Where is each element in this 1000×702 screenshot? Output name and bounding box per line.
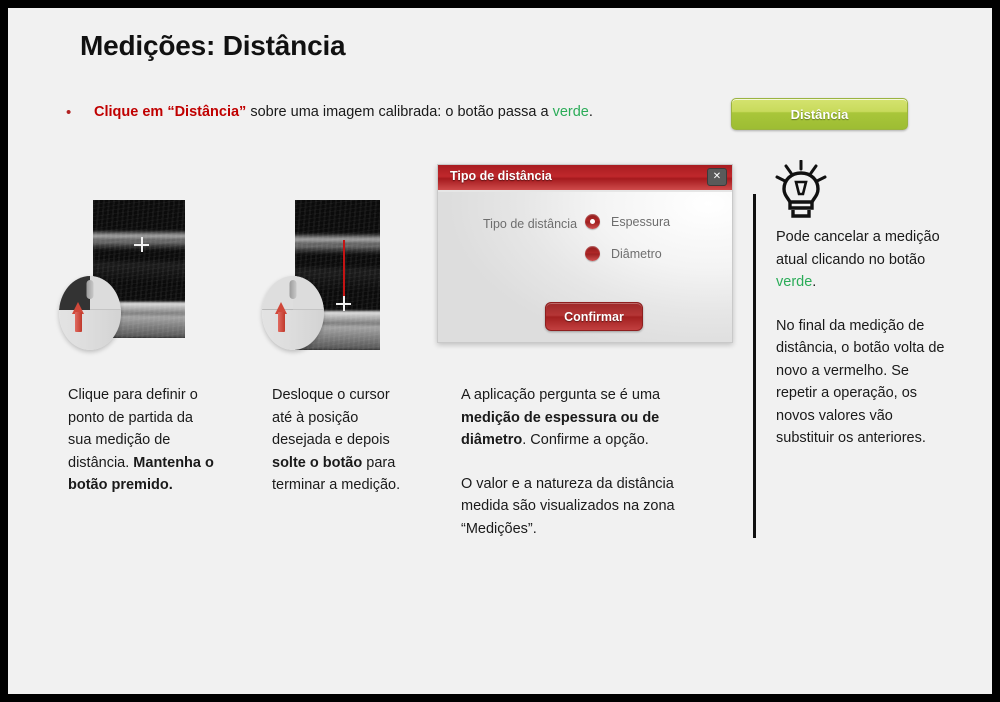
caption-column-1: Clique para definir o ponto de partida d… [68,384,218,497]
bullet-tail: . [589,104,593,120]
tipo-de-distancia-dialog: Tipo de distância ✕ Tipo de distância Es… [437,164,733,343]
caption-3-paragraph-2: O valor e a natureza da distância medida… [461,473,679,541]
radio-option-espessura[interactable]: Espessura [585,214,670,229]
tip-paragraph-1: Pode cancelar a medição atual clicando n… [776,226,948,294]
bullet-highlight: verde [553,104,589,120]
radio-button-selected-icon[interactable] [585,214,600,229]
mouse-scroll-wheel [87,280,94,299]
bullet-text: Clique em “Distância” sobre uma imagem c… [94,102,726,122]
crosshair-cursor-icon [134,237,149,252]
bullet-middle: sobre uma imagem calibrada: o botão pass… [246,104,552,120]
bullet-marker-icon: • [66,103,71,123]
up-arrow-icon [72,302,85,332]
radio-button-unselected-icon[interactable] [585,246,600,261]
tip-panel: Pode cancelar a medição atual clicando n… [776,226,948,471]
radio-label: Espessura [611,215,670,229]
vertical-divider [753,194,756,538]
tip-text-b: . [812,274,816,290]
caption-2-text-a: Desloque o cursor até à posição desejada… [272,387,390,448]
radio-dot [590,219,595,224]
caption-3-paragraph-1: A aplicação pergunta se é uma medição de… [461,384,679,452]
lightbulb-icon [773,160,829,222]
page-title: Medições: Distância [80,30,345,62]
slide-canvas: Medições: Distância • Clique em “Distânc… [8,8,992,694]
crosshair-cursor-icon [336,296,351,311]
measurement-line [343,240,345,304]
tip-highlight: verde [776,274,812,290]
bullet-item: • Clique em “Distância” sobre uma imagem… [66,102,726,122]
mouse-icon-released [262,276,324,350]
caption-3-text-b: . Confirme a opção. [522,432,649,448]
dialog-title-bar: Tipo de distância ✕ [438,165,732,192]
distancia-button[interactable]: Distância [731,98,908,130]
confirmar-button[interactable]: Confirmar [545,302,643,331]
dialog-field-label: Tipo de distância [483,217,577,231]
dialog-title: Tipo de distância [450,169,552,183]
confirmar-button-label: Confirmar [564,310,624,324]
caption-column-2: Desloque o cursor até à posição desejada… [272,384,412,497]
close-icon[interactable]: ✕ [707,168,727,186]
tip-text-a: Pode cancelar a medição atual clicando n… [776,229,940,268]
mouse-scroll-wheel [290,280,297,299]
tip-paragraph-2: No final da medição de distância, o botã… [776,315,948,450]
radio-label: Diâmetro [611,247,662,261]
caption-2-bold: solte o botão [272,455,362,471]
bullet-lead: Clique em “Distância” [94,104,246,120]
up-arrow-icon [275,302,288,332]
dialog-body: Tipo de distância Espessura Diâmetro Con… [438,192,732,342]
radio-option-diametro[interactable]: Diâmetro [585,246,662,261]
caption-column-3: A aplicação pergunta se é uma medição de… [461,384,679,561]
caption-3-text-a: A aplicação pergunta se é uma [461,387,660,403]
mouse-icon-pressed [59,276,121,350]
arrow-shaft [278,312,285,332]
distancia-button-label: Distância [791,107,849,122]
arrow-shaft [75,312,82,332]
